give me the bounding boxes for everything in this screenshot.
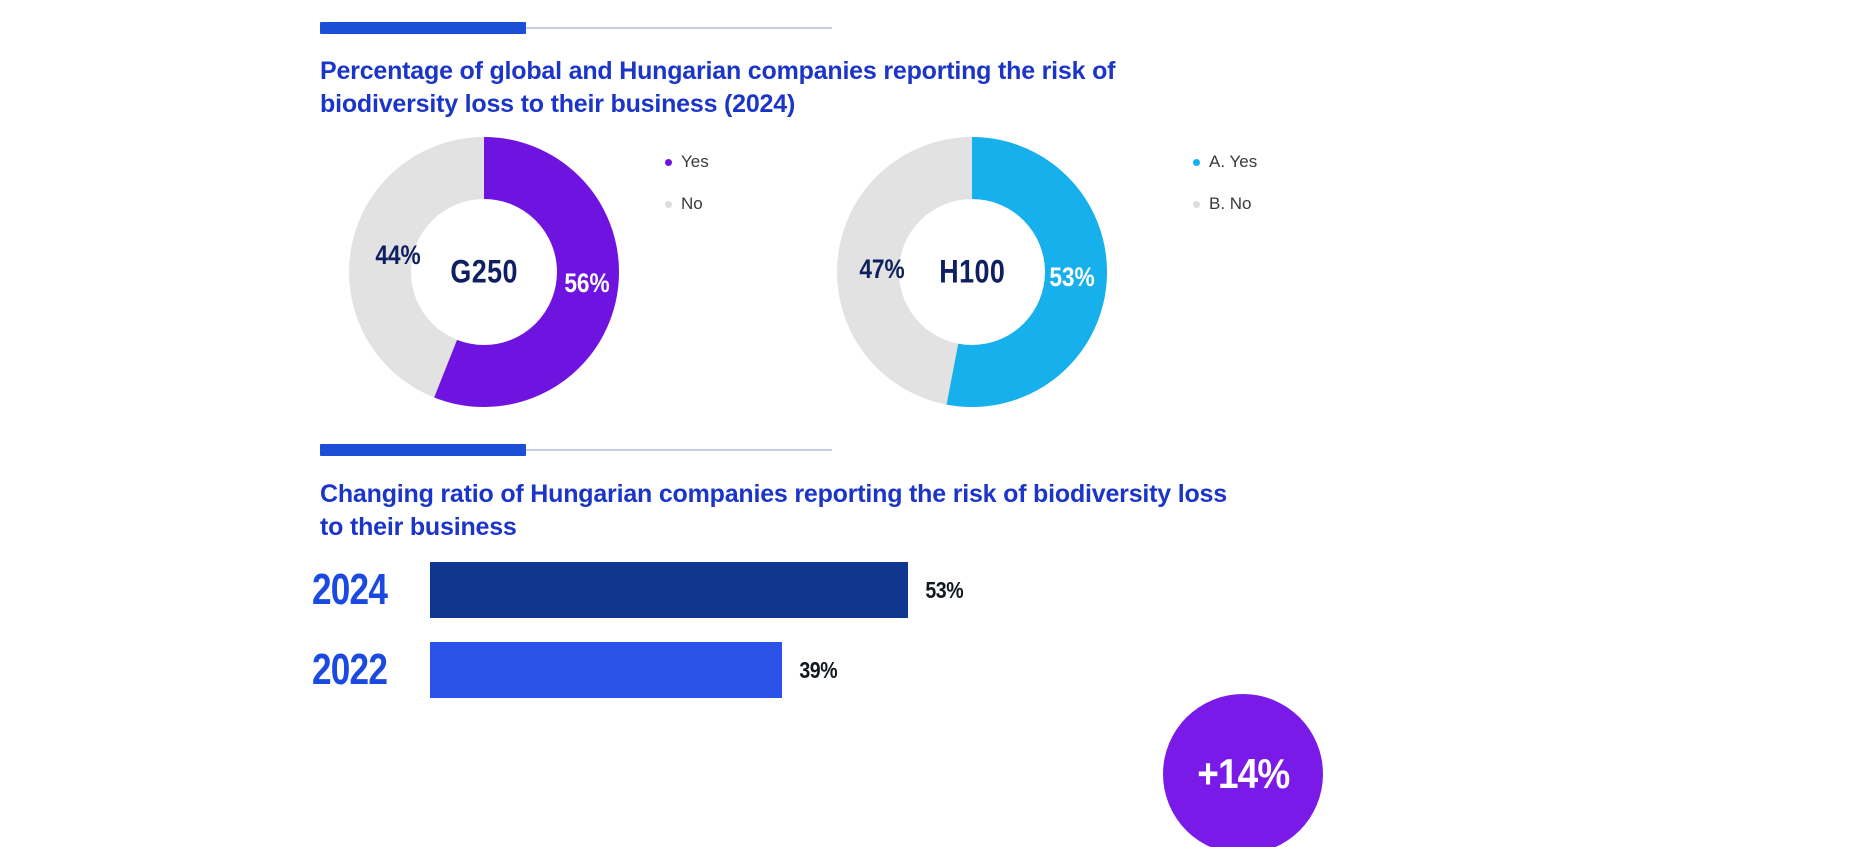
legend-label: B. No <box>1209 194 1252 214</box>
legend-dot-icon <box>1193 201 1200 208</box>
legend-item-a-yes[interactable]: A. Yes <box>1193 152 1257 172</box>
bar-value-2024: 53% <box>922 577 967 604</box>
delta-badge-label: +14% <box>1197 750 1289 798</box>
bar-row-2024: 2024 53% <box>312 562 967 618</box>
legend-label: Yes <box>681 152 709 172</box>
section1-accent-rule <box>320 22 832 34</box>
delta-badge: +14% <box>1163 694 1323 847</box>
bar-fill-2024 <box>430 562 908 618</box>
legend-dot-icon <box>1193 159 1200 166</box>
donut-chart-h100: H100 53% 47% <box>836 136 1108 408</box>
accent-bar-light <box>526 27 832 29</box>
donut-h100-legend: A. Yes B. No <box>1193 152 1257 236</box>
bar-year-label: 2022 <box>312 645 430 695</box>
legend-dot-icon <box>665 201 672 208</box>
bar-fill-2022 <box>430 642 782 698</box>
bar-track: 39% <box>430 642 841 698</box>
accent-bar-light <box>526 449 832 451</box>
legend-label: A. Yes <box>1209 152 1257 172</box>
donut-g250-center-text: G250 <box>450 254 517 291</box>
donut-g250-secondary-value: 44% <box>371 240 425 271</box>
legend-label: No <box>681 194 703 214</box>
infographic-page: Percentage of global and Hungarian compa… <box>0 0 1864 847</box>
accent-bar-strong <box>320 444 526 456</box>
legend-item-no[interactable]: No <box>665 194 709 214</box>
bar-row-2022: 2022 39% <box>312 642 841 698</box>
bar-year-label: 2024 <box>312 565 430 615</box>
section2-accent-rule <box>320 444 832 456</box>
donut-h100-secondary-value: 47% <box>855 254 909 285</box>
donut-g250-legend: Yes No <box>665 152 709 236</box>
bar-value-2022: 39% <box>796 657 841 684</box>
legend-dot-icon <box>665 159 672 166</box>
bar-track: 53% <box>430 562 967 618</box>
donut-h100-center-text: H100 <box>939 254 1005 291</box>
donut-g250-primary-value: 56% <box>560 268 614 299</box>
donut-h100-primary-value: 53% <box>1045 262 1099 293</box>
section1-title: Percentage of global and Hungarian compa… <box>320 55 1140 121</box>
legend-item-yes[interactable]: Yes <box>665 152 709 172</box>
section2-title: Changing ratio of Hungarian companies re… <box>320 478 1240 544</box>
donut-chart-g250: G250 56% 44% <box>348 136 620 408</box>
accent-bar-strong <box>320 22 526 34</box>
legend-item-b-no[interactable]: B. No <box>1193 194 1257 214</box>
